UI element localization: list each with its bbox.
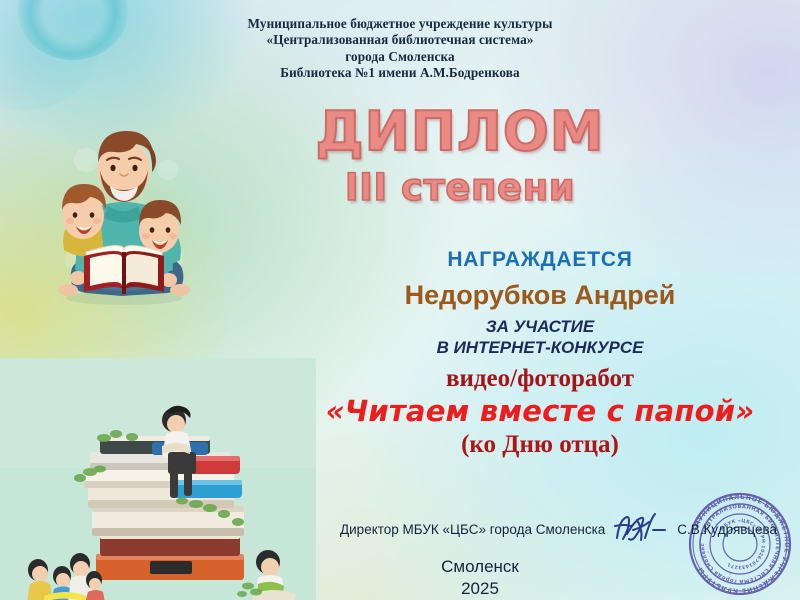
- handwritten-signature-icon: [611, 512, 673, 546]
- certificate-page: Муниципальное бюджетное учреждение культ…: [0, 0, 800, 600]
- books-stack-photo: [0, 358, 316, 600]
- participation-line-2: В ИНТЕРНЕТ-КОНКУРСЕ: [290, 337, 790, 358]
- director-name: С.В.Кудрявцева: [677, 522, 777, 537]
- award-body: НАГРАЖДАЕТСЯ Недорубков Андрей ЗА УЧАСТИ…: [290, 248, 790, 459]
- footer-city: Смоленск: [340, 556, 620, 578]
- certificate-degree: III степени: [300, 168, 620, 208]
- footer-block: Смоленск 2025: [340, 556, 620, 600]
- participation-line-1: ЗА УЧАСТИЕ: [290, 316, 790, 337]
- organization-header: Муниципальное бюджетное учреждение культ…: [0, 16, 800, 82]
- official-stamp: МУНИЦИПАЛЬНОЕ БЮДЖЕТНОЕ УЧРЕЖДЕНИЕ КУЛЬТ…: [686, 490, 794, 598]
- certificate-title-block: ДИПЛОМ III степени: [300, 104, 620, 208]
- recipient-name: Недорубков Андрей: [290, 280, 790, 311]
- header-line-1: Муниципальное бюджетное учреждение культ…: [0, 16, 800, 32]
- family-reading-illustration: [28, 118, 218, 313]
- footer-year: 2025: [340, 578, 620, 600]
- contest-name: «Читаем вместе с папой»: [290, 394, 790, 428]
- director-title: Директор МБУК «ЦБС» города Смоленска: [340, 522, 605, 537]
- header-line-4: Библиотека №1 имени А.М.Бодренкова: [0, 65, 800, 81]
- contest-note: (ко Дню отца): [290, 431, 790, 459]
- certificate-title: ДИПЛОМ: [300, 104, 620, 160]
- header-line-2: «Централизованная библиотечная система»: [0, 32, 800, 48]
- work-type: видео/фоторабот: [290, 365, 790, 393]
- awarded-label: НАГРАЖДАЕТСЯ: [290, 248, 790, 272]
- header-line-3: города Смоленска: [0, 49, 800, 65]
